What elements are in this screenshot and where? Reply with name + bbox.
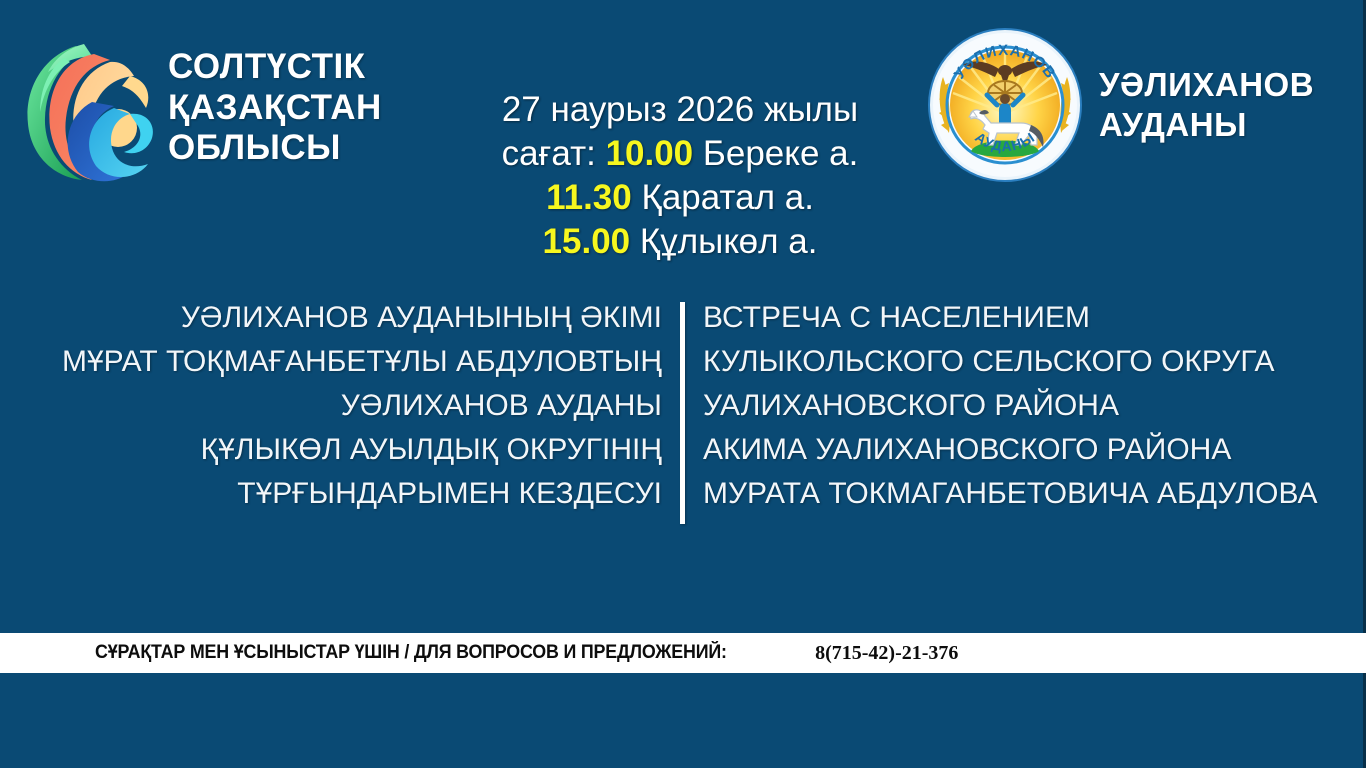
sko-brand: СОЛТҮСТІК ҚАЗАҚСТАН ОБЛЫСЫ — [18, 32, 382, 184]
ualikhanov-brand: УӘЛИХАНОВ АУДАНЫ УӘЛИХАНОВ АУДАНЫ — [925, 25, 1314, 185]
kazakh-line-2: МҰРАТ ТОҚМАҒАНБЕТҰЛЫ АБДУЛОВТЫҢ — [30, 340, 662, 384]
announcement-poster: СОЛТҮСТІК ҚАЗАҚСТАН ОБЛЫСЫ 27 наурыз 202… — [0, 0, 1366, 768]
time-value-1: 10.00 — [606, 134, 694, 173]
sko-wordmark-line1: СОЛТҮСТІК — [168, 47, 382, 88]
event-time-line-2: 11.30 Қаратал а. — [425, 176, 935, 220]
ualikhanov-wordmark-line1: УӘЛИХАНОВ — [1099, 65, 1314, 105]
kazakh-line-5: ТҰРҒЫНДАРЫМЕН КЕЗДЕСУІ — [30, 472, 662, 516]
russian-line-4: АКИМА УАЛИХАНОВСКОГО РАЙОНА — [703, 428, 1353, 472]
russian-line-5: МУРАТА ТОКМАГАНБЕТОВИЧА АБДУЛОВА — [703, 472, 1353, 516]
ualikhanov-wordmark-line2: АУДАНЫ — [1099, 105, 1314, 145]
kazakh-line-4: ҚҰЛЫКӨЛ АУЫЛДЫҚ ОКРУГІНІҢ — [30, 428, 662, 472]
ualikhanov-district-emblem-icon: УӘЛИХАНОВ АУДАНЫ — [925, 25, 1085, 185]
event-time-line-3: 15.00 Құлыкөл а. — [425, 220, 935, 264]
sko-wordmark: СОЛТҮСТІК ҚАЗАҚСТАН ОБЛЫСЫ — [168, 47, 382, 170]
kazakh-text-column: УӘЛИХАНОВ АУДАНЫНЫҢ ӘКІМІ МҰРАТ ТОҚМАҒАН… — [30, 296, 662, 516]
contact-footer-bar: СҰРАҚТАР МЕН ҰСЫНЫСТАР ҮШІН / ДЛЯ ВОПРОС… — [0, 633, 1366, 673]
event-time-line-1: сағат: 10.00 Береке а. — [425, 132, 935, 176]
place-3: Құлыкөл а. — [630, 222, 817, 261]
russian-line-2: КУЛЫКОЛЬСКОГО СЕЛЬСКОГО ОКРУГА — [703, 340, 1353, 384]
event-schedule: 27 наурыз 2026 жылы сағат: 10.00 Береке … — [425, 88, 935, 264]
sko-wordmark-line3: ОБЛЫСЫ — [168, 128, 382, 169]
contact-label: СҰРАҚТАР МЕН ҰСЫНЫСТАР ҮШІН / ДЛЯ ВОПРОС… — [95, 642, 727, 664]
russian-text-column: ВСТРЕЧА С НАСЕЛЕНИЕМ КУЛЫКОЛЬСКОГО СЕЛЬС… — [703, 296, 1353, 516]
time-label: сағат: — [502, 134, 606, 173]
column-divider — [680, 302, 685, 524]
sko-wordmark-line2: ҚАЗАҚСТАН — [168, 88, 382, 129]
time-value-2: 11.30 — [546, 178, 632, 217]
contact-phone-number: 8(715-42)-21-376 — [815, 642, 958, 665]
poster-header: СОЛТҮСТІК ҚАЗАҚСТАН ОБЛЫСЫ 27 наурыз 202… — [0, 0, 1366, 285]
ualikhanov-wordmark: УӘЛИХАНОВ АУДАНЫ — [1099, 65, 1314, 146]
sko-wave-logo-icon — [18, 32, 158, 184]
russian-line-1: ВСТРЕЧА С НАСЕЛЕНИЕМ — [703, 296, 1353, 340]
poster-main-text: УӘЛИХАНОВ АУДАНЫНЫҢ ӘКІМІ МҰРАТ ТОҚМАҒАН… — [0, 296, 1366, 536]
russian-line-3: УАЛИХАНОВСКОГО РАЙОНА — [703, 384, 1353, 428]
place-2: Қаратал а. — [632, 178, 814, 217]
time-value-3: 15.00 — [543, 222, 631, 261]
place-1: Береке а. — [693, 134, 858, 173]
kazakh-line-1: УӘЛИХАНОВ АУДАНЫНЫҢ ӘКІМІ — [30, 296, 662, 340]
kazakh-line-3: УӘЛИХАНОВ АУДАНЫ — [30, 384, 662, 428]
event-date: 27 наурыз 2026 жылы — [425, 88, 935, 132]
